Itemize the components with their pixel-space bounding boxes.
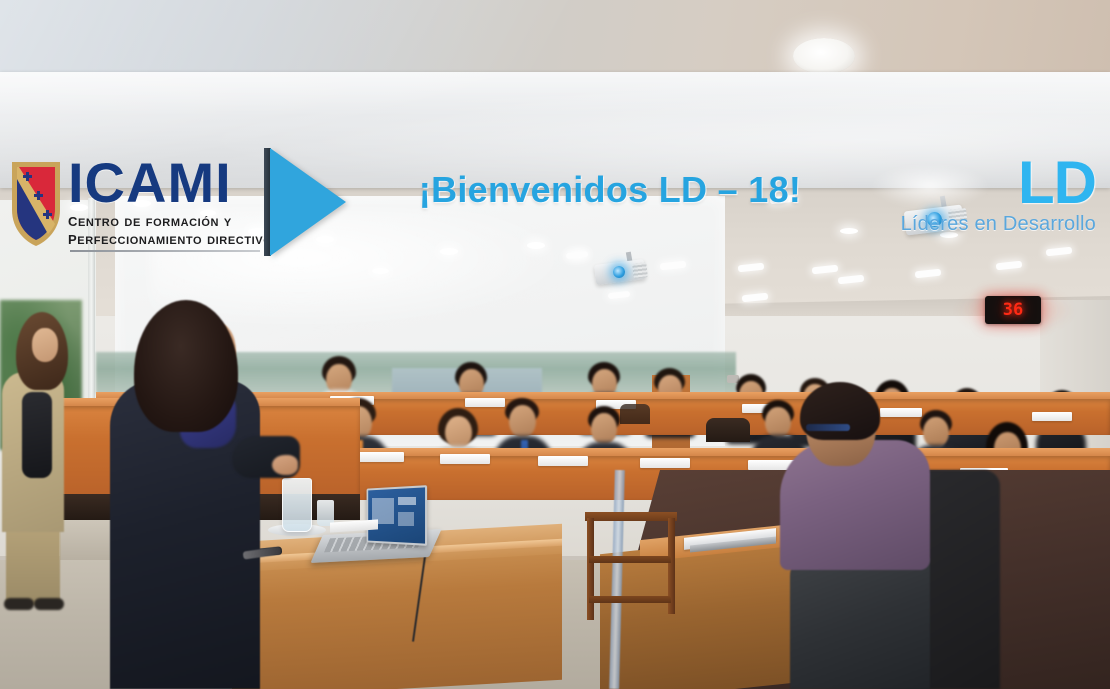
projector-lens-icon	[613, 266, 625, 278]
laptop-screen-window	[398, 497, 416, 505]
water-pitcher	[282, 478, 312, 532]
assistant-shoe	[34, 598, 64, 610]
icami-wordmark: ICAMI Centro de Formación y Perfeccionam…	[68, 154, 272, 248]
laptop-screen-window	[398, 512, 414, 526]
page-title: ¡Bienvenidos LD – 18!	[320, 168, 900, 212]
downlight	[372, 268, 389, 274]
name-card	[1032, 412, 1072, 421]
institution-name: ICAMI	[68, 154, 272, 212]
side-cart	[585, 512, 677, 620]
icami-shield-icon	[10, 158, 62, 248]
chair-back	[620, 404, 650, 424]
downlight	[440, 248, 458, 255]
slide-root: 36	[0, 0, 1110, 689]
led-timer-digits: 36	[1003, 302, 1023, 319]
wordmark-underline	[70, 250, 260, 252]
ld-program-logo: LD Líderes en Desarrollo	[901, 154, 1096, 236]
cart-shelf	[589, 596, 671, 603]
presenter-hand	[272, 455, 298, 475]
institution-subtitle-line1: Centro de Formación y	[68, 212, 272, 230]
name-card	[880, 408, 922, 417]
name-card	[640, 458, 690, 468]
ld-tagline: Líderes en Desarrollo	[901, 212, 1096, 236]
institution-subtitle-line2: Perfeccionamiento Directivo	[68, 230, 272, 248]
chair-back	[706, 418, 750, 442]
cart-shelf	[589, 556, 671, 563]
assistant-inner-top	[22, 392, 52, 478]
cart-top	[585, 512, 677, 521]
name-card	[538, 456, 588, 466]
ld-mark: LD	[901, 154, 1096, 212]
downlight	[527, 242, 545, 249]
assistant-face	[32, 328, 58, 362]
attendee-foreground-legs	[790, 552, 930, 689]
title-banner: ICAMI Centro de Formación y Perfeccionam…	[0, 72, 1110, 188]
cart-leg	[587, 518, 594, 620]
name-card	[440, 454, 490, 464]
led-timer-display: 36	[985, 296, 1041, 324]
assistant-shoe	[4, 598, 34, 610]
attendee-foreground-glasses-icon	[806, 424, 850, 431]
downlight	[840, 228, 858, 234]
projector-vent	[632, 262, 648, 279]
name-card	[465, 398, 505, 407]
ceiling-light-large	[793, 38, 855, 74]
